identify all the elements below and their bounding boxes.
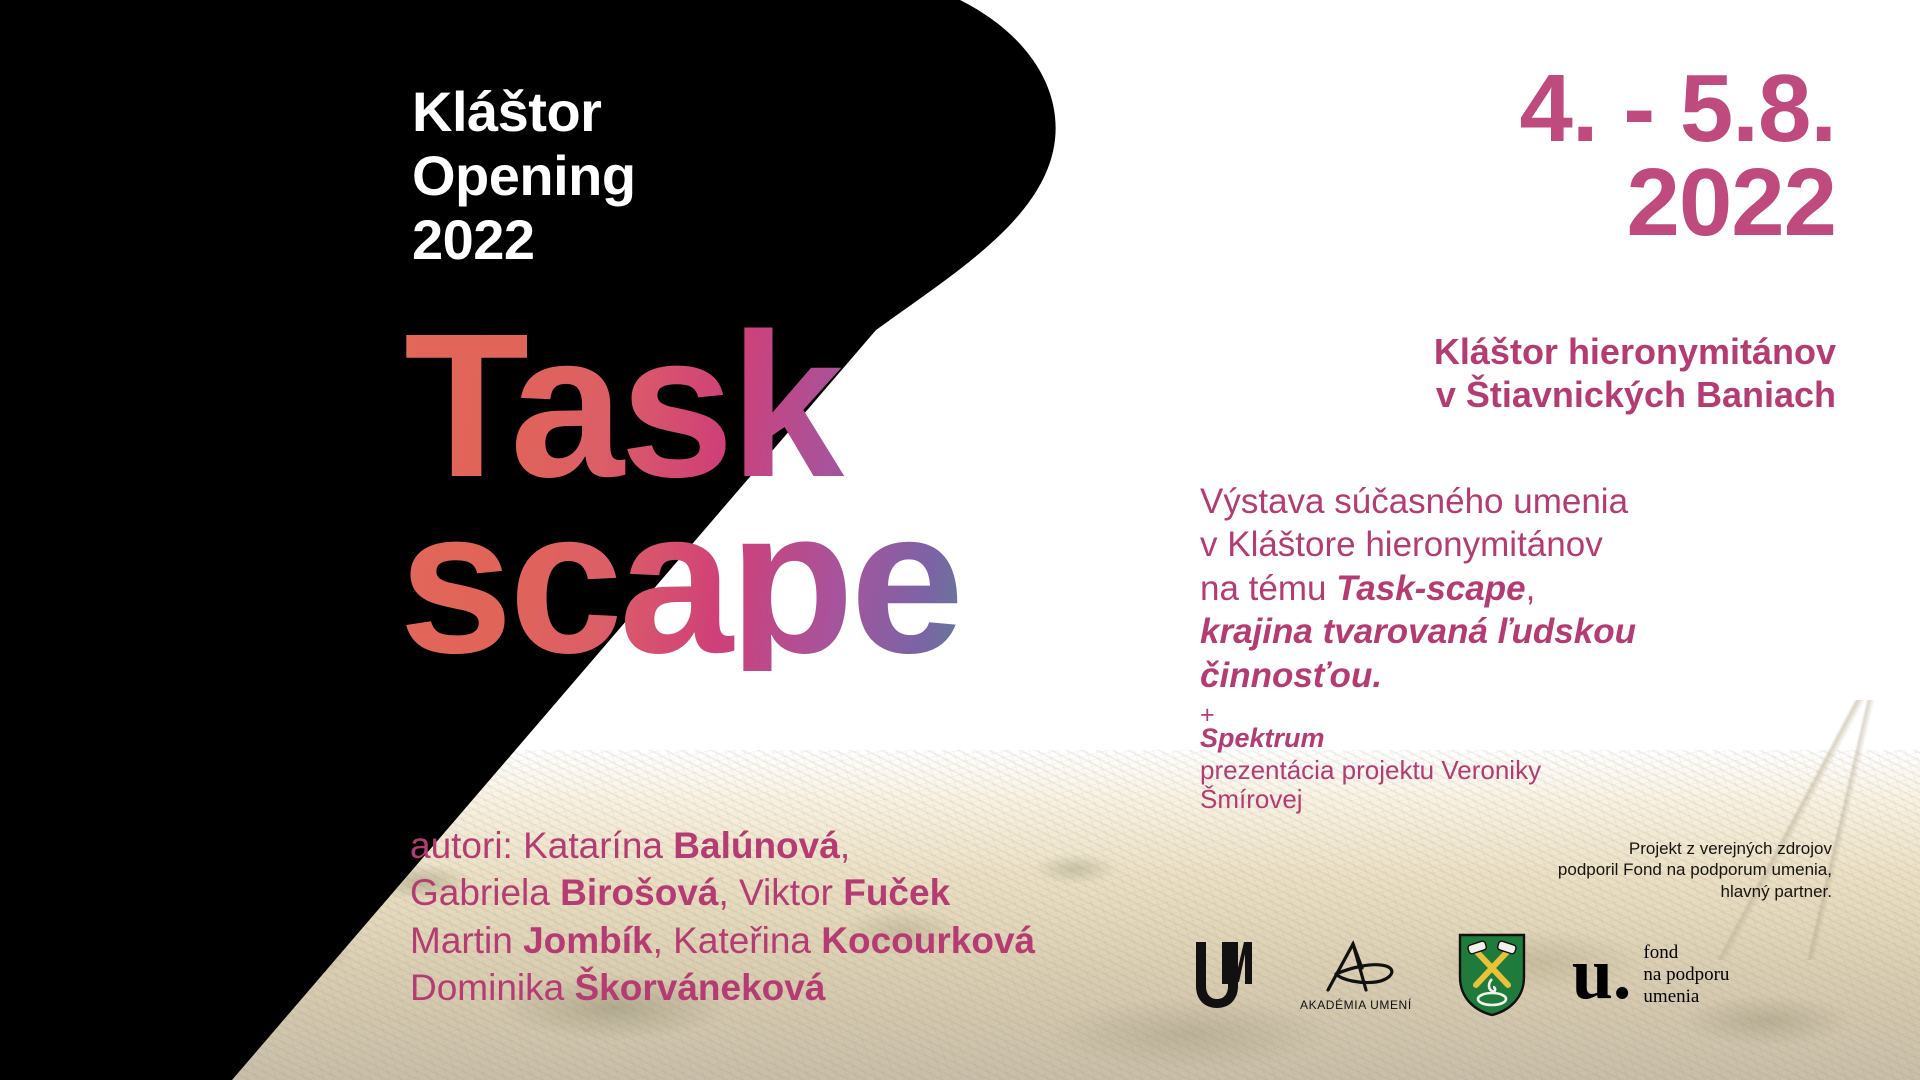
mu-monogram-logo xyxy=(1190,938,1256,1012)
page-title: Kláštor Opening 2022 xyxy=(412,80,932,271)
author-surname: Kocourková xyxy=(821,920,1035,961)
stiavnicke-bane-crest-logo xyxy=(1456,931,1528,1019)
author-surname: Birošová xyxy=(560,872,718,913)
author-row: autori: Katarína Balúnová, xyxy=(410,822,1090,869)
event-date: 4. - 5.8. 2022 xyxy=(1520,62,1837,250)
author-text: Dominika xyxy=(410,967,575,1008)
description-line-3-suffix: , xyxy=(1526,569,1536,608)
fond-na-podporu-umenia-logo: u. fond na podporu umenia xyxy=(1572,942,1730,1008)
spektrum-title: Spektrum xyxy=(1200,722,1325,754)
wordmark-line-scape: scape xyxy=(399,494,1124,670)
author-text: , Viktor xyxy=(718,872,843,913)
funding-credit-text: Projekt z verejných zdrojov podporil Fon… xyxy=(1412,838,1832,902)
taskscape-wordmark: Task scape xyxy=(404,318,1124,671)
author-surname: Jombík xyxy=(523,920,653,961)
author-text: Gabriela xyxy=(410,872,560,913)
author-text: , Kateřina xyxy=(653,920,822,961)
description-line-1: Výstava súčasného umenia xyxy=(1200,482,1628,521)
fpu-u-mark: u. xyxy=(1572,948,1632,1001)
author-text: Martin xyxy=(410,920,523,961)
akademia-umeni-label: AKADÉMIA UMENÍ xyxy=(1300,998,1412,1012)
author-surname: Balúnová xyxy=(673,825,840,866)
author-row: Martin Jombík, Kateřina Kocourková xyxy=(410,917,1090,964)
author-text: autori: Katarína xyxy=(410,825,673,866)
poster-canvas: Kláštor Opening 2022 Task scape autori: … xyxy=(0,0,1920,1080)
author-row: Gabriela Birošová, Viktor Fuček xyxy=(410,869,1090,916)
description-theme-title: Task-scape xyxy=(1336,569,1525,608)
venue-heading: Kláštor hieronymitánov v Štiavnických Ba… xyxy=(1434,330,1836,416)
author-surname: Škorváneková xyxy=(575,967,826,1008)
description-line-4: krajina tvarovaná ľudskou xyxy=(1200,612,1636,651)
authors-list: autori: Katarína Balúnová,Gabriela Biroš… xyxy=(410,822,1090,1011)
akademia-umeni-logo: AKADÉMIA UMENÍ xyxy=(1300,938,1412,1012)
author-text: , xyxy=(840,825,850,866)
description-line-3-prefix: na tému xyxy=(1200,569,1336,608)
description-line-2: v Kláštore hieronymitánov xyxy=(1200,525,1603,564)
spektrum-subtitle: prezentácia projektu Veroniky Šmírovej xyxy=(1200,756,1640,814)
author-surname: Fuček xyxy=(843,872,950,913)
description-line-5: činnosťou. xyxy=(1200,656,1382,695)
partner-logo-strip: AKADÉMIA UMENÍ u. f xyxy=(1190,920,1840,1030)
author-row: Dominika Škorváneková xyxy=(410,964,1090,1011)
fpu-label: fond na podporu umenia xyxy=(1643,942,1729,1008)
right-info-column: 4. - 5.8. 2022 Kláštor hieronymitánov v … xyxy=(1160,0,1860,1080)
exhibition-description: Výstava súčasného umenia v Kláštore hier… xyxy=(1200,480,1836,697)
